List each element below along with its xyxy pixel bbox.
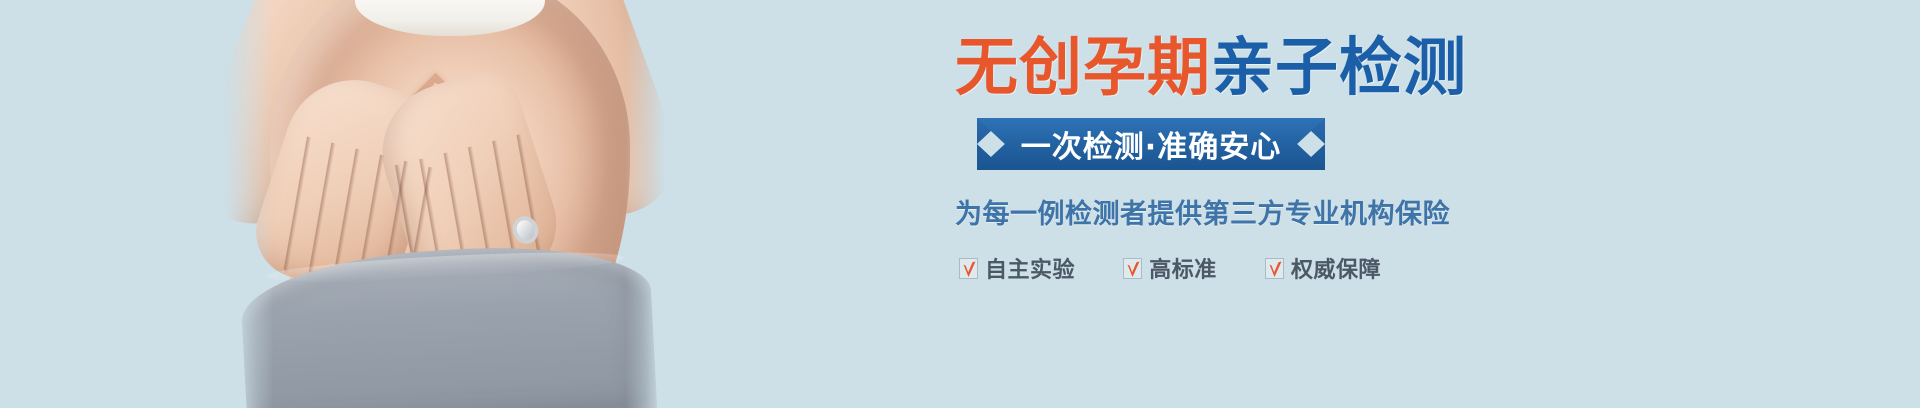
feature-item-1: 高标准 (1123, 252, 1217, 284)
check-icon (1123, 258, 1142, 279)
headline-part-orange: 无创孕期 (955, 31, 1211, 104)
tagline-ribbon: 一次检测·准确安心 (977, 118, 1325, 170)
check-icon (959, 258, 978, 279)
subtitle: 为每一例检测者提供第三方专业机构保险 (955, 192, 1385, 231)
feature-item-0: 自主实验 (959, 252, 1075, 284)
feature-item-2: 权威保障 (1265, 252, 1381, 284)
hero-photo (225, 0, 665, 408)
banner-copy: 无创孕期亲子检测 一次检测·准确安心 为每一例检测者提供第三方专业机构保险 自主… (955, 0, 1385, 408)
feature-label-1: 高标准 (1149, 252, 1217, 284)
promo-banner: 无创孕期亲子检测 一次检测·准确安心 为每一例检测者提供第三方专业机构保险 自主… (0, 0, 1920, 408)
feature-label-2: 权威保障 (1291, 252, 1381, 284)
headline: 无创孕期亲子检测 (955, 36, 1385, 99)
tagline-text: 一次检测·准确安心 (1021, 122, 1281, 166)
check-icon (1265, 258, 1284, 279)
feature-list: 自主实验 高标准 权威保障 (955, 252, 1385, 284)
feature-label-0: 自主实验 (985, 252, 1075, 284)
headline-part-blue: 亲子检测 (1211, 31, 1467, 104)
